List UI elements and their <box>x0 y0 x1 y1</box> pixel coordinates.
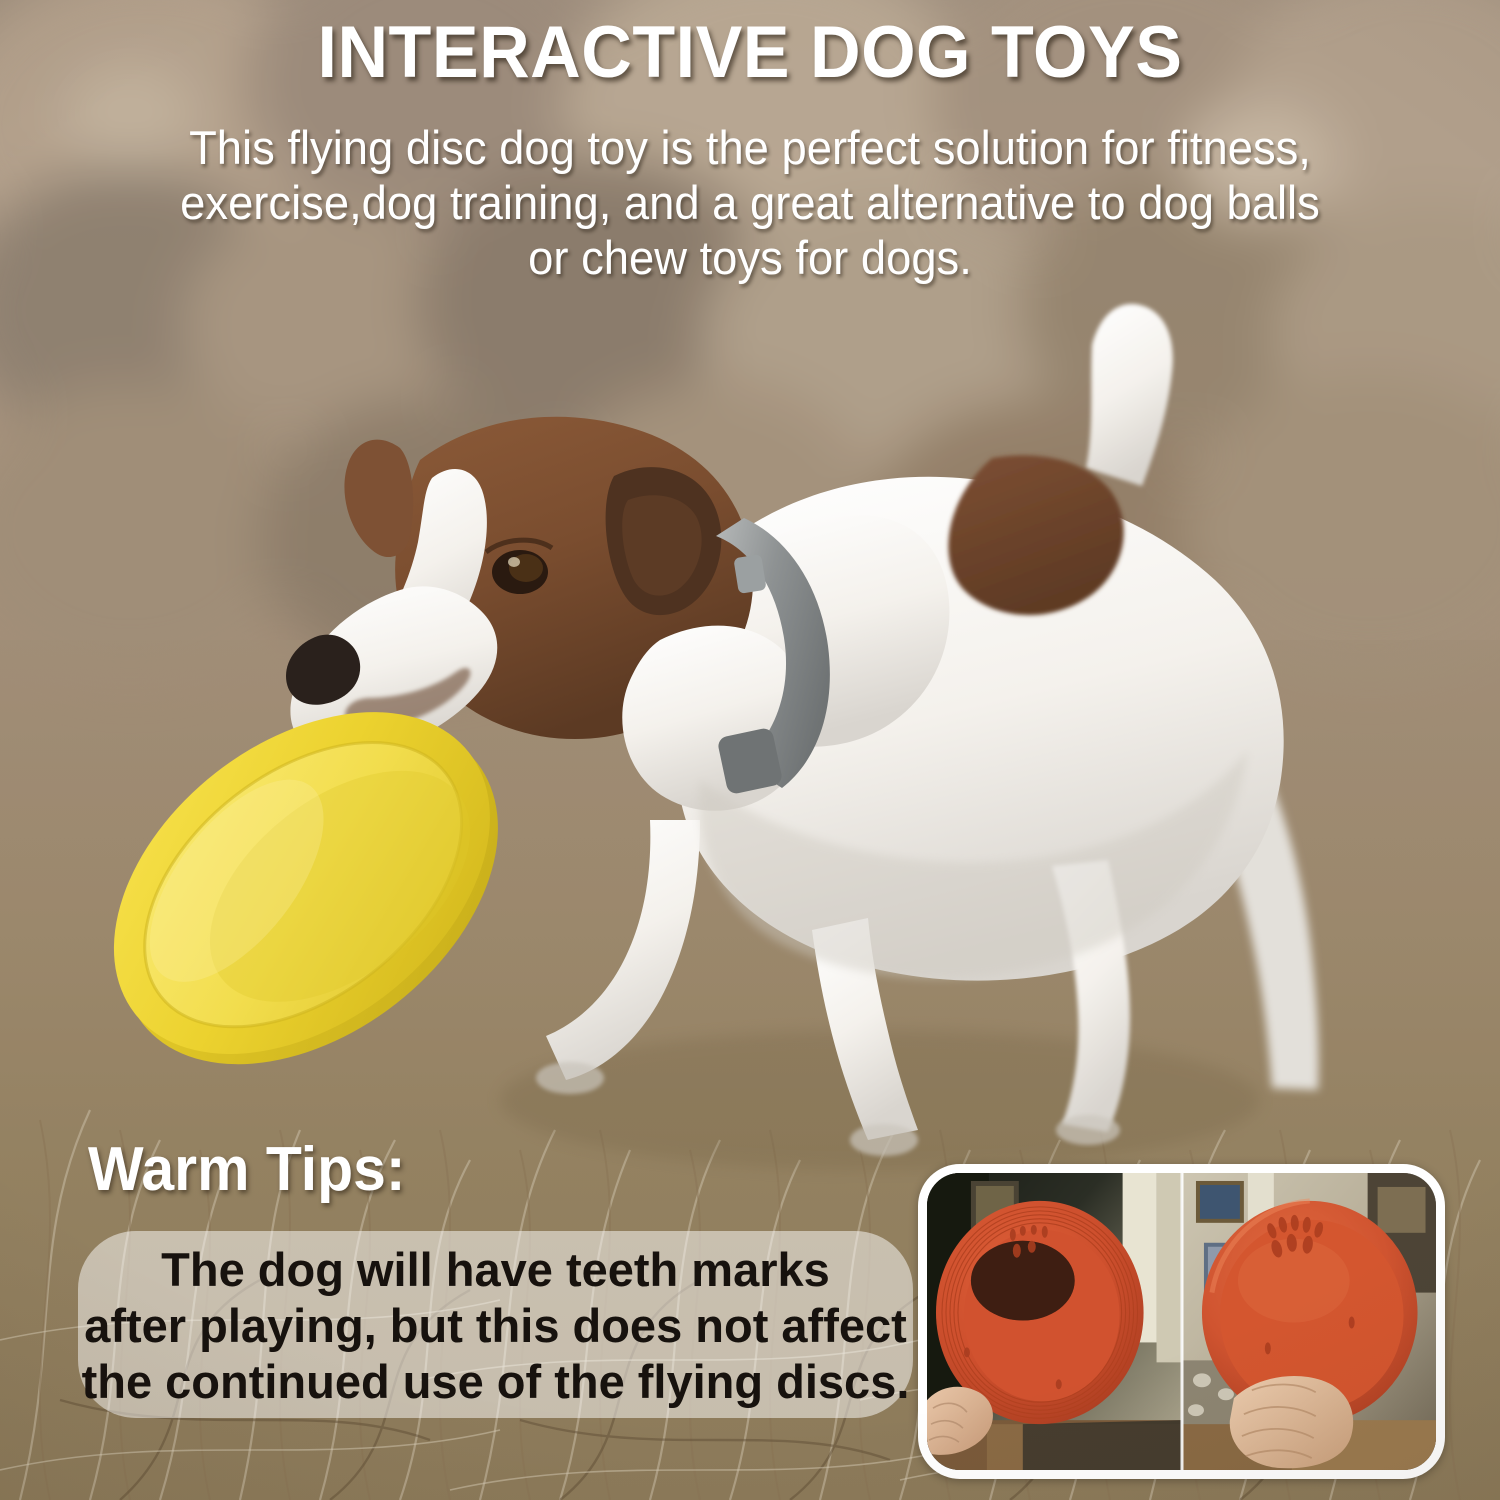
page-subtitle: This flying disc dog toy is the perfect … <box>65 120 1435 285</box>
subtitle-line-3: or chew toys for dogs. <box>65 230 1435 285</box>
subtitle-line-1: This flying disc dog toy is the perfect … <box>65 120 1435 175</box>
yellow-flying-disc <box>75 690 535 1085</box>
tips-line-1: The dog will have teeth marks <box>161 1242 830 1298</box>
warm-tips-heading: Warm Tips: <box>88 1139 405 1201</box>
tips-line-3: the continued use of the flying discs. <box>82 1354 910 1410</box>
inset-divider <box>1180 1173 1183 1470</box>
orange-disc-photo-panel <box>918 1164 1445 1479</box>
product-infographic: INTERACTIVE DOG TOYS This flying disc do… <box>0 0 1500 1500</box>
page-title: INTERACTIVE DOG TOYS <box>30 16 1470 89</box>
inset-photo-left <box>927 1173 1182 1470</box>
warm-tips-text: The dog will have teeth marks after play… <box>78 1236 913 1416</box>
subtitle-line-2: exercise,dog training, and a great alter… <box>65 175 1435 230</box>
tips-line-2: after playing, but this does not affect <box>84 1298 907 1354</box>
inset-photo-right <box>1182 1173 1437 1470</box>
